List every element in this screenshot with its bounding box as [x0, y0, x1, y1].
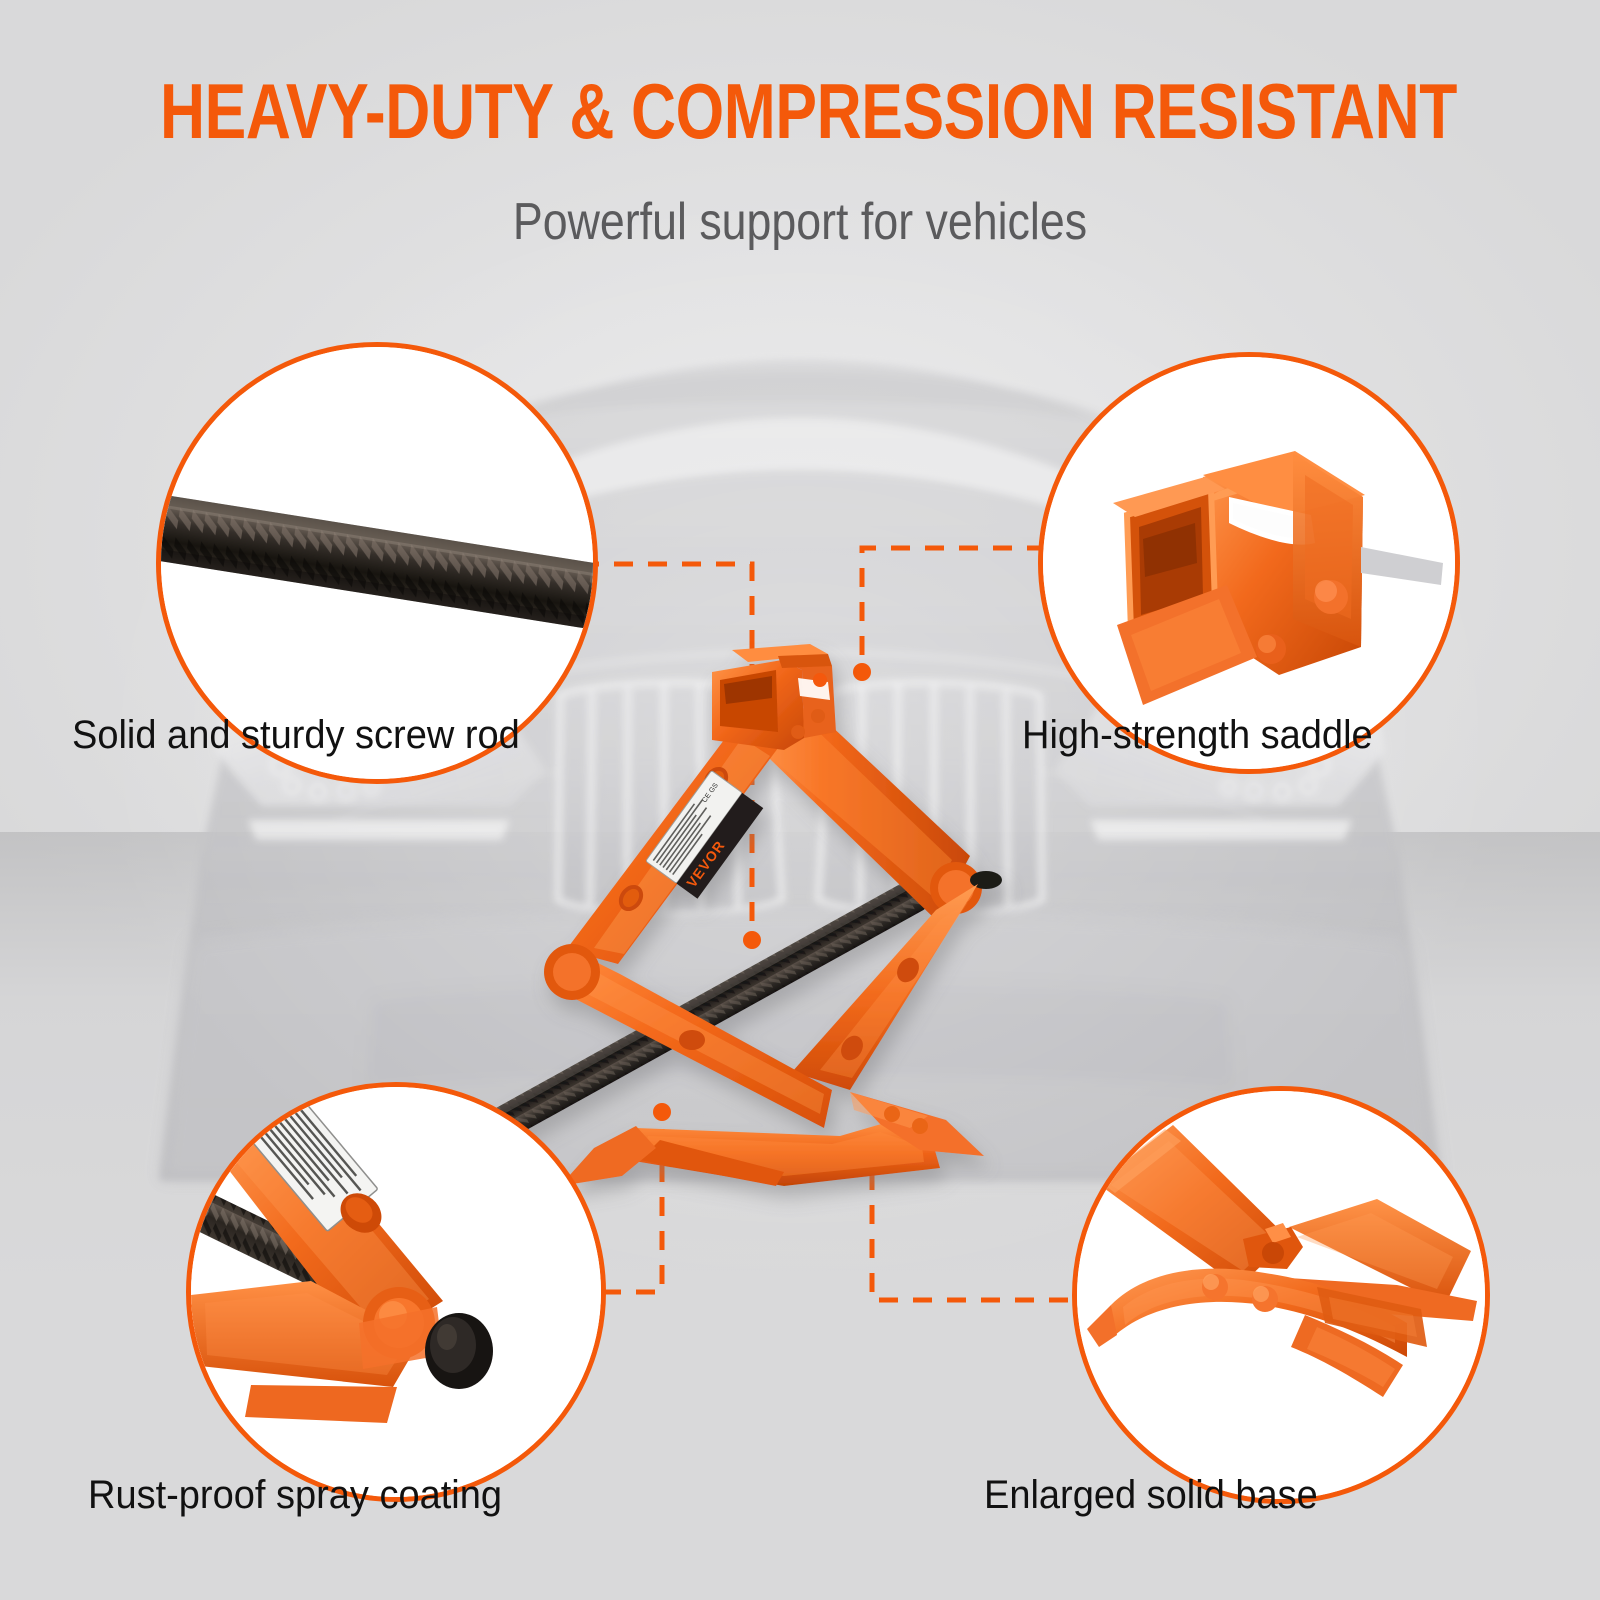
- right-pivot: [930, 862, 1002, 914]
- caption-saddle: High-strength saddle: [1022, 715, 1373, 755]
- caption-coating: Rust-proof spray coating: [88, 1475, 502, 1515]
- page-headline: HEAVY-DUTY & COMPRESSION RESISTANT: [160, 72, 1440, 150]
- page-subheadline: Powerful support for vehicles: [112, 196, 1488, 248]
- caption-base: Enlarged solid base: [984, 1475, 1318, 1515]
- product-infographic: CE GS VEVOR: [0, 0, 1600, 1600]
- jack-base: [560, 1092, 984, 1186]
- callout-circle-coating[interactable]: [186, 1082, 606, 1502]
- callout-circle-base[interactable]: [1072, 1086, 1490, 1504]
- end-cap: [425, 1313, 493, 1389]
- jack-saddle: [712, 644, 836, 750]
- caption-screw-rod: Solid and sturdy screw rod: [72, 715, 520, 755]
- callout-circle-saddle[interactable]: [1038, 352, 1460, 774]
- left-pivot: [544, 944, 600, 1000]
